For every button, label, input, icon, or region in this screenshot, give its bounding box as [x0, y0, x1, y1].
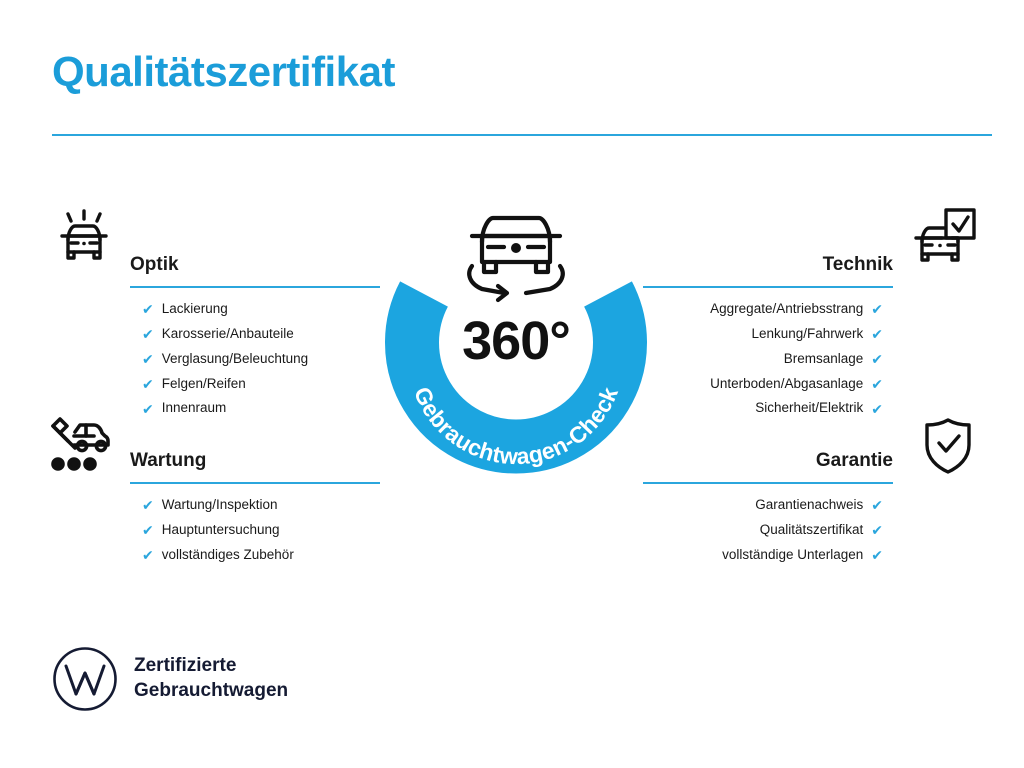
vw-certified-logo: Zertifizierte Gebrauchtwagen: [52, 646, 288, 712]
section-optik-header: Optik: [130, 232, 380, 278]
list-item: Garantienachweis ✔: [755, 498, 883, 513]
check-icon: ✔: [871, 302, 883, 316]
section-technik-header: Technik: [643, 232, 893, 278]
list-item: Unterboden/Abgasanlage ✔: [710, 377, 883, 392]
list-item-label: Aggregate/Antriebsstrang: [710, 302, 863, 317]
title-divider: [52, 134, 992, 136]
list-item: Aggregate/Antriebsstrang ✔: [710, 302, 883, 317]
check-icon: ✔: [871, 352, 883, 366]
section-technik: Technik Aggregate/Antriebsstrang ✔ Lenku…: [643, 232, 893, 416]
vw-logo-line1: Zertifizierte: [134, 654, 288, 679]
list-item: ✔ Verglasung/Beleuchtung: [142, 352, 308, 367]
list-item-label: Lackierung: [162, 302, 228, 317]
shield-check-icon: [912, 414, 984, 478]
check-icon: ✔: [142, 377, 154, 391]
vw-logo-line2: Gebrauchtwagen: [134, 679, 288, 704]
page-title: Qualitätszertifikat: [52, 48, 395, 96]
list-item: ✔ Wartung/Inspektion: [142, 498, 278, 513]
check-icon: ✔: [142, 548, 154, 562]
list-item: ✔ vollständiges Zubehör: [142, 548, 294, 563]
check-icon: ✔: [871, 498, 883, 512]
badge-value: 360°: [372, 310, 660, 372]
list-item-label: Sicherheit/Elektrik: [755, 401, 863, 416]
list-item: Sicherheit/Elektrik ✔: [755, 401, 883, 416]
badge-360-check: Gebrauchtwagen-Check 360°: [372, 186, 660, 486]
list-item-label: Felgen/Reifen: [162, 377, 246, 392]
section-optik: Optik ✔ Lackierung ✔ Karosserie/Anbautei…: [130, 232, 380, 416]
section-technik-title: Technik: [823, 255, 893, 278]
list-item: Lenkung/Fahrwerk ✔: [751, 327, 883, 342]
list-item-label: Karosserie/Anbauteile: [162, 327, 294, 342]
list-item-label: Lenkung/Fahrwerk: [751, 327, 863, 342]
section-technik-divider: [643, 286, 893, 288]
list-item: ✔ Innenraum: [142, 401, 226, 416]
check-icon: ✔: [142, 352, 154, 366]
list-item-label: Wartung/Inspektion: [162, 498, 278, 513]
car-lift-icon: [44, 414, 116, 478]
certificate-page: Qualitätszertifikat Optik ✔ Lackierung: [0, 0, 1024, 768]
check-icon: ✔: [871, 327, 883, 341]
check-icon: ✔: [142, 302, 154, 316]
vw-logo-text: Zertifizierte Gebrauchtwagen: [134, 654, 288, 703]
section-optik-divider: [130, 286, 380, 288]
check-icon: ✔: [871, 402, 883, 416]
section-optik-list: ✔ Lackierung ✔ Karosserie/Anbauteile ✔ V…: [130, 302, 380, 416]
section-wartung-list: ✔ Wartung/Inspektion ✔ Hauptuntersuchung…: [130, 498, 380, 563]
car-shine-icon: [48, 204, 120, 268]
list-item: ✔ Felgen/Reifen: [142, 377, 246, 392]
list-item-label: Garantienachweis: [755, 498, 863, 513]
list-item: ✔ Hauptuntersuchung: [142, 523, 280, 538]
section-wartung-header: Wartung: [130, 428, 380, 474]
list-item-label: Innenraum: [162, 401, 227, 416]
list-item-label: Verglasung/Beleuchtung: [162, 352, 308, 367]
check-icon: ✔: [142, 498, 154, 512]
section-optik-title: Optik: [130, 255, 179, 278]
section-garantie-header: Garantie: [643, 428, 893, 474]
list-item: ✔ Karosserie/Anbauteile: [142, 327, 294, 342]
list-item-label: vollständiges Zubehör: [162, 548, 294, 563]
list-item-label: Unterboden/Abgasanlage: [710, 377, 863, 392]
check-icon: ✔: [871, 548, 883, 562]
section-wartung-divider: [130, 482, 380, 484]
check-icon: ✔: [142, 402, 154, 416]
section-garantie: Garantie Garantienachweis ✔ Qualitätszer…: [643, 428, 893, 563]
list-item-label: Bremsanlage: [784, 352, 864, 367]
check-icon: ✔: [142, 327, 154, 341]
section-wartung-title: Wartung: [130, 451, 206, 474]
list-item: ✔ Lackierung: [142, 302, 228, 317]
check-icon: ✔: [871, 377, 883, 391]
list-item: Qualitätszertifikat ✔: [760, 523, 883, 538]
section-technik-list: Aggregate/Antriebsstrang ✔ Lenkung/Fahrw…: [643, 302, 893, 416]
section-garantie-title: Garantie: [816, 451, 893, 474]
vw-logo-icon: [52, 646, 118, 712]
list-item: vollständige Unterlagen ✔: [722, 548, 883, 563]
check-icon: ✔: [871, 523, 883, 537]
check-icon: ✔: [142, 523, 154, 537]
list-item-label: Hauptuntersuchung: [162, 523, 280, 538]
section-garantie-divider: [643, 482, 893, 484]
section-garantie-list: Garantienachweis ✔ Qualitätszertifikat ✔…: [643, 498, 893, 563]
list-item-label: vollständige Unterlagen: [722, 548, 863, 563]
car-checkbox-icon: [908, 204, 980, 268]
list-item: Bremsanlage ✔: [784, 352, 883, 367]
list-item-label: Qualitätszertifikat: [760, 523, 864, 538]
car-rotate-icon: [469, 218, 563, 300]
section-wartung: Wartung ✔ Wartung/Inspektion ✔ Hauptunte…: [130, 428, 380, 563]
